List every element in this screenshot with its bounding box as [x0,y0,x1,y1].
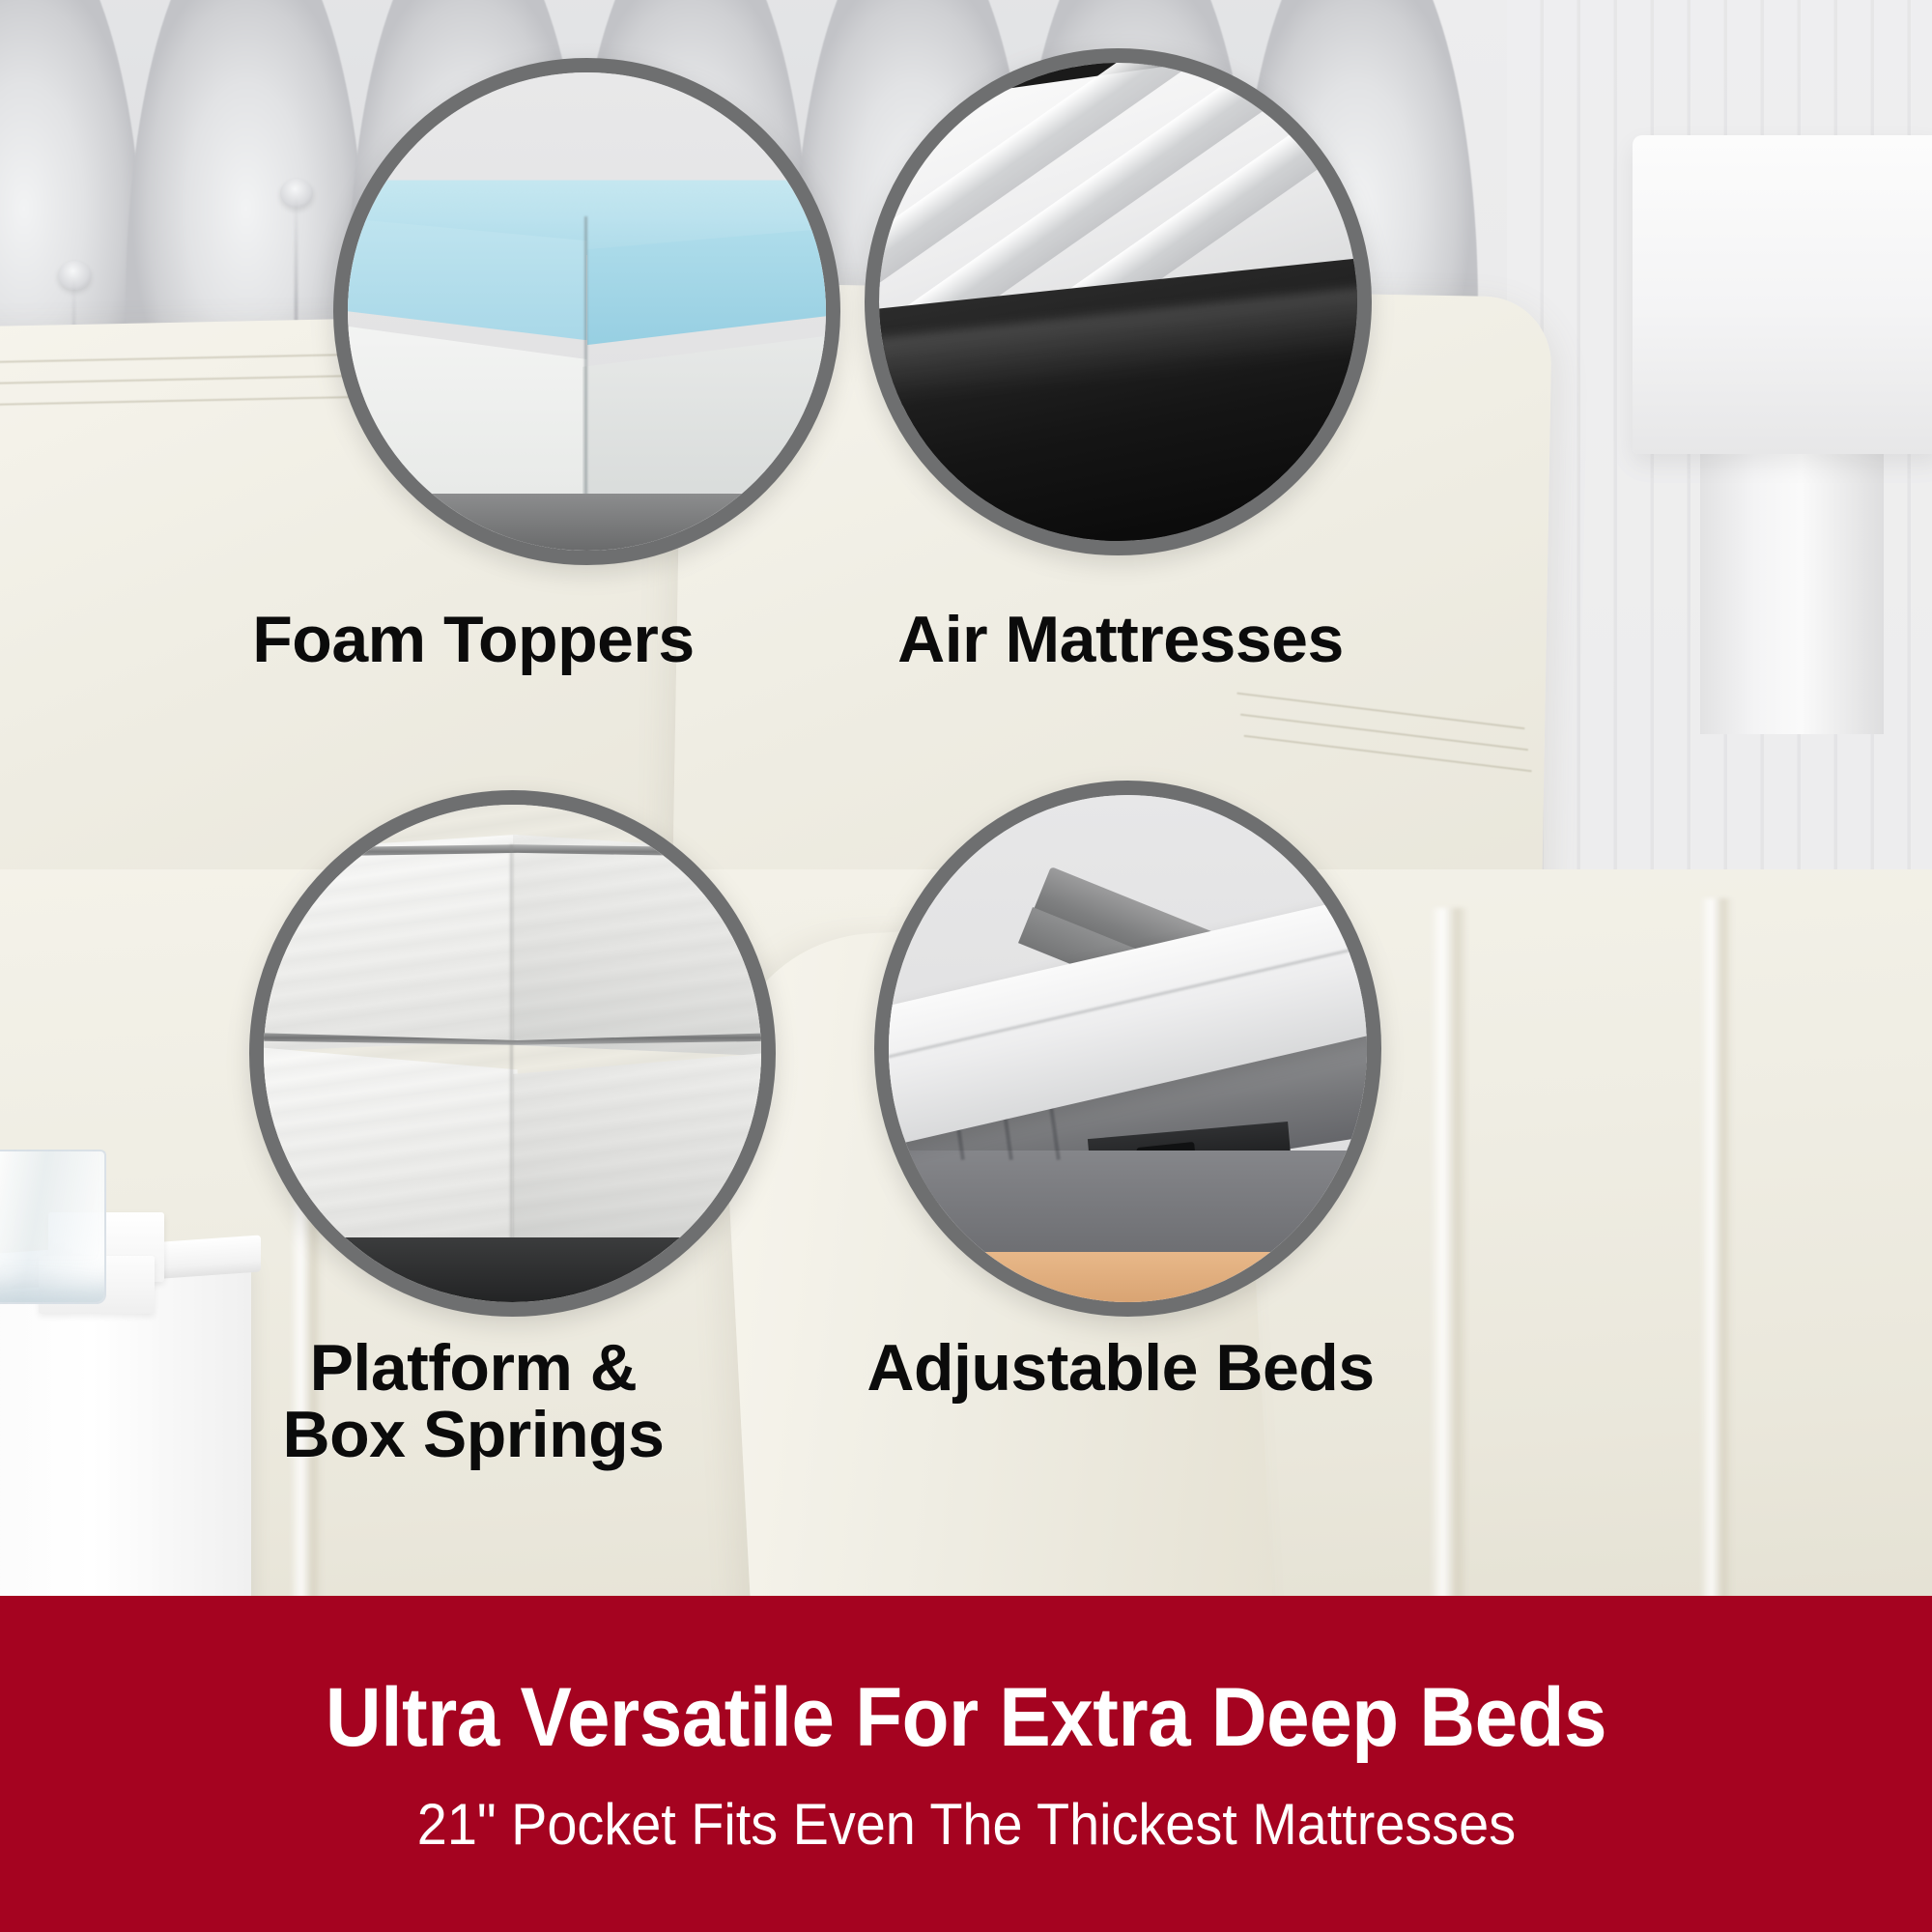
lamp-shade [1633,135,1932,454]
air-mattress-photo [879,63,1357,541]
product-infographic: Foam Toppers Air Mattresses Platform & B… [0,0,1932,1932]
box-spring-photo [264,805,761,1302]
callout-adjustable-beds [874,781,1381,1317]
callout-air-mattresses [865,48,1372,555]
callout-label-adjustable-beds: Adjustable Beds [802,1335,1439,1402]
callout-label-air-mattresses: Air Mattresses [802,607,1439,673]
water-glass [0,1150,106,1304]
promo-banner: Ultra Versatile For Extra Deep Beds 21" … [0,1596,1932,1932]
callout-foam-toppers [333,58,840,565]
lamp-base [1700,444,1884,734]
adjustable-bed-photo [889,795,1367,1302]
banner-headline: Ultra Versatile For Extra Deep Beds [326,1670,1606,1766]
callout-label-platform-box-springs: Platform & Box Springs [193,1335,753,1469]
callout-label-foam-toppers: Foam Toppers [174,607,773,673]
banner-subheadline: 21" Pocket Fits Even The Thickest Mattre… [416,1791,1515,1858]
foam-topper-photo [348,72,826,551]
callout-platform-box-springs [249,790,776,1317]
